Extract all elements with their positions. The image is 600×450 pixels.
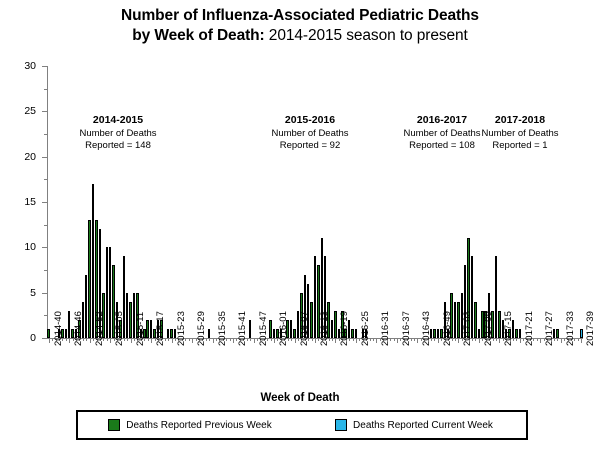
x-axis-major-tick xyxy=(561,339,562,343)
legend-label-previous-week: Deaths Reported Previous Week xyxy=(126,420,271,431)
x-axis-minor-tick xyxy=(394,339,395,341)
x-axis-major-tick xyxy=(520,339,521,343)
x-axis-tick-label: 2017-21 xyxy=(524,311,535,346)
x-axis-minor-tick xyxy=(414,339,415,341)
y-axis-tick-label: 10 xyxy=(24,241,36,253)
x-axis-tick-label: 2017-09 xyxy=(483,311,494,346)
x-axis-minor-tick xyxy=(434,339,435,341)
bar xyxy=(556,329,558,338)
x-axis-major-tick xyxy=(295,339,296,343)
legend-swatch-current-week xyxy=(335,419,347,431)
bar xyxy=(88,220,90,338)
y-axis-tick-label: 0 xyxy=(30,332,36,344)
x-axis-tick-label: 2016-13 xyxy=(319,311,330,346)
x-axis-major-tick xyxy=(233,339,234,343)
bar xyxy=(498,311,500,338)
bar xyxy=(310,302,312,338)
x-axis-tick-label: 2016-25 xyxy=(360,311,371,346)
y-axis-tick-label: 25 xyxy=(24,105,36,117)
y-axis-major-tick: 25 xyxy=(42,111,47,112)
x-axis-minor-tick xyxy=(148,339,149,341)
bar xyxy=(355,329,357,338)
x-axis-minor-tick xyxy=(168,339,169,341)
bar xyxy=(334,311,336,338)
x-axis-tick-label: 2015-29 xyxy=(196,311,207,346)
bar xyxy=(495,256,497,338)
bar xyxy=(106,247,108,338)
bar xyxy=(150,320,152,338)
x-axis-major-tick xyxy=(69,339,70,343)
bar xyxy=(478,329,480,338)
plot-area: 051015202530 2014-402014-462014-522015-0… xyxy=(47,66,583,339)
season-annotation-line-1: Number of Deaths xyxy=(403,128,480,140)
bar xyxy=(249,320,251,338)
y-axis-minor-tick xyxy=(44,270,47,271)
bar xyxy=(433,329,435,338)
x-axis-minor-tick xyxy=(189,339,190,341)
y-axis-tick-label: 5 xyxy=(30,287,36,299)
y-axis-major-tick: 15 xyxy=(42,202,47,203)
x-axis-minor-tick xyxy=(332,339,333,341)
x-axis-minor-tick xyxy=(475,339,476,341)
x-axis-tick-label: 2016-07 xyxy=(299,311,310,346)
bar xyxy=(290,320,292,338)
x-axis-tick-label: 2017-15 xyxy=(503,311,514,346)
x-axis-major-tick xyxy=(417,339,418,343)
influenza-pediatric-deaths-chart: Number of Influenza-Associated Pediatric… xyxy=(0,0,600,450)
bar xyxy=(293,329,295,338)
x-axis-major-tick xyxy=(131,339,132,343)
x-axis-tick-label: 2015-47 xyxy=(258,311,269,346)
y-axis-minor-tick xyxy=(44,315,47,316)
x-axis-title: Week of Death xyxy=(0,392,600,404)
x-axis-major-tick xyxy=(479,339,480,343)
chart-legend: Deaths Reported Previous Week Deaths Rep… xyxy=(76,410,528,440)
x-axis-tick-label: 2014-52 xyxy=(94,311,105,346)
chart-title: Number of Influenza-Associated Pediatric… xyxy=(0,6,600,46)
y-axis-major-tick: 0 xyxy=(42,338,47,339)
bar xyxy=(273,329,275,338)
season-annotation-name: 2015-2016 xyxy=(271,114,348,128)
season-annotation-name: 2017-2018 xyxy=(481,114,558,128)
x-axis-major-tick xyxy=(213,339,214,343)
bar xyxy=(454,302,456,338)
x-axis-major-tick xyxy=(540,339,541,343)
chart-title-line-1: Number of Influenza-Associated Pediatric… xyxy=(0,6,600,26)
x-axis-tick-label: 2015-11 xyxy=(135,312,146,346)
x-axis-tick-label: 2016-43 xyxy=(421,311,432,346)
x-axis-tick-label: 2015-41 xyxy=(237,311,248,346)
x-axis-minor-tick xyxy=(209,339,210,341)
x-axis-minor-tick xyxy=(66,339,67,341)
bar xyxy=(129,302,131,338)
chart-title-line-2-normal: 2014-2015 season to present xyxy=(265,27,468,44)
bar xyxy=(47,329,49,338)
y-axis-major-tick: 10 xyxy=(42,247,47,248)
x-axis-minor-tick xyxy=(578,339,579,341)
x-axis-major-tick xyxy=(172,339,173,343)
x-axis-minor-tick xyxy=(373,339,374,341)
x-axis-minor-tick xyxy=(271,339,272,341)
x-axis-tick-label: 2016-31 xyxy=(380,311,391,346)
y-axis-tick-label: 20 xyxy=(24,151,36,163)
y-axis-line xyxy=(47,66,48,339)
season-annotation-line-2: Reported = 1 xyxy=(481,140,558,152)
x-axis-tick-label: 2017-27 xyxy=(544,311,555,346)
season-annotation-name: 2016-2017 xyxy=(403,114,480,128)
x-axis-tick-label: 2016-19 xyxy=(339,311,350,346)
bar xyxy=(85,275,87,338)
x-axis-major-tick xyxy=(151,339,152,343)
chart-title-line-2: by Week of Death: 2014-2015 season to pr… xyxy=(0,26,600,46)
x-axis-minor-tick xyxy=(312,339,313,341)
bar xyxy=(457,302,459,338)
season-annotation-name: 2014-2015 xyxy=(79,114,156,128)
x-axis-minor-tick xyxy=(557,339,558,341)
x-axis-tick-label: 2015-23 xyxy=(176,311,187,346)
season-annotation-line-1: Number of Deaths xyxy=(481,128,558,140)
x-axis-minor-tick xyxy=(496,339,497,341)
bar xyxy=(515,329,517,338)
x-axis-major-tick xyxy=(397,339,398,343)
y-axis-major-tick: 30 xyxy=(42,66,47,67)
bar xyxy=(170,329,172,338)
bar xyxy=(109,247,111,338)
x-axis-minor-tick xyxy=(353,339,354,341)
x-axis-tick-label: 2016-37 xyxy=(401,311,412,346)
x-axis-minor-tick xyxy=(107,339,108,341)
season-annotation-line-1: Number of Deaths xyxy=(271,128,348,140)
y-axis-major-tick: 20 xyxy=(42,157,47,158)
x-axis-tick-label: 2015-35 xyxy=(217,311,228,346)
bar xyxy=(126,293,128,338)
bar xyxy=(437,329,439,338)
y-axis-minor-tick xyxy=(44,179,47,180)
season-annotation-line-1: Number of Deaths xyxy=(79,128,156,140)
x-axis-minor-tick xyxy=(250,339,251,341)
bar xyxy=(314,256,316,338)
x-axis-tick-label: 2014-46 xyxy=(73,311,84,346)
x-axis-tick-label: 2016-49 xyxy=(442,311,453,346)
legend-entry-current-week: Deaths Reported Current Week xyxy=(302,419,526,431)
y-axis-tick-label: 15 xyxy=(24,196,36,208)
y-axis-major-tick: 5 xyxy=(42,293,47,294)
x-axis-major-tick xyxy=(458,339,459,343)
x-axis-major-tick xyxy=(356,339,357,343)
bar xyxy=(331,320,333,338)
x-axis-tick-label: 2017-33 xyxy=(565,311,576,346)
x-axis-minor-tick xyxy=(537,339,538,341)
bar xyxy=(208,329,210,338)
x-axis-minor-tick xyxy=(86,339,87,341)
bar xyxy=(65,329,67,338)
bar xyxy=(269,320,271,338)
x-axis-major-tick xyxy=(581,339,582,343)
x-axis-tick-label: 2014-40 xyxy=(53,311,64,346)
x-axis-minor-tick xyxy=(291,339,292,341)
x-axis-major-tick xyxy=(335,339,336,343)
bar xyxy=(146,320,148,338)
x-axis-minor-tick xyxy=(455,339,456,341)
x-axis-major-tick xyxy=(499,339,500,343)
legend-entry-previous-week: Deaths Reported Previous Week xyxy=(78,419,302,431)
x-axis-tick-label: 2015-17 xyxy=(155,311,166,346)
bar xyxy=(474,302,476,338)
chart-title-line-2-bold: by Week of Death: xyxy=(132,27,264,44)
x-axis-minor-tick xyxy=(516,339,517,341)
y-axis-minor-tick xyxy=(44,89,47,90)
x-axis-major-tick xyxy=(49,339,50,343)
season-annotation-line-2: Reported = 148 xyxy=(79,140,156,152)
season-annotation-line-2: Reported = 92 xyxy=(271,140,348,152)
season-annotation: 2016-2017Number of DeathsReported = 108 xyxy=(403,114,480,152)
y-axis-minor-tick xyxy=(44,134,47,135)
bar xyxy=(580,329,582,338)
y-axis-tick-label: 30 xyxy=(24,60,36,72)
x-axis-tick-label: 2017-39 xyxy=(585,311,596,346)
bar xyxy=(519,329,521,338)
x-axis-major-tick xyxy=(315,339,316,343)
x-axis-major-tick xyxy=(254,339,255,343)
x-axis-tick-label: 2017-03 xyxy=(462,311,473,346)
x-axis-major-tick xyxy=(438,339,439,343)
x-axis-major-tick xyxy=(376,339,377,343)
x-axis-minor-tick xyxy=(127,339,128,341)
season-annotation: 2015-2016Number of DeathsReported = 92 xyxy=(271,114,348,152)
bar xyxy=(351,329,353,338)
x-axis-major-tick xyxy=(90,339,91,343)
x-axis-major-tick xyxy=(274,339,275,343)
x-axis-tick-label: 2015-05 xyxy=(114,311,125,346)
season-annotation: 2017-2018Number of DeathsReported = 1 xyxy=(481,114,558,152)
legend-label-current-week: Deaths Reported Current Week xyxy=(353,420,493,431)
bar xyxy=(167,329,169,338)
x-axis-minor-tick xyxy=(230,339,231,341)
x-axis-major-tick xyxy=(110,339,111,343)
bar xyxy=(68,311,70,338)
x-axis-tick-label: 2016-01 xyxy=(278,311,289,346)
y-axis-minor-tick xyxy=(44,225,47,226)
season-annotation: 2014-2015Number of DeathsReported = 148 xyxy=(79,114,156,152)
x-axis-major-tick xyxy=(192,339,193,343)
legend-swatch-previous-week xyxy=(108,419,120,431)
season-annotation-line-2: Reported = 108 xyxy=(403,140,480,152)
